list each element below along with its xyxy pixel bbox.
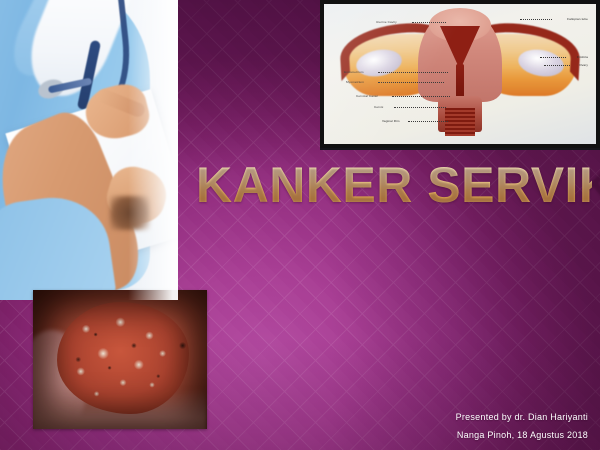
anatomy-label-cervix: Cervix [374, 105, 383, 109]
uterus-anatomy-diagram: Uterine Cavity Endometrium Myometrium Ce… [320, 0, 600, 150]
leader-line-vaginal-rim [408, 121, 448, 122]
leader-line-ovary [544, 65, 570, 66]
anatomy-label-fimbria: Fimbria [577, 55, 588, 59]
anatomy-label-cervical-canal: Cervical Canal [356, 94, 378, 98]
nurse-with-clipboard-photo [0, 0, 178, 300]
presentation-slide: Uterine Cavity Endometrium Myometrium Ce… [0, 0, 600, 450]
page-title: KANKER SERVIKS [196, 160, 592, 210]
lesion-photo-vignette [33, 290, 207, 429]
leader-line-uterine-cavity [412, 22, 446, 23]
leader-line-cervical-canal [392, 96, 450, 97]
anatomy-label-vaginal-rim: Vaginal Rim [382, 119, 400, 123]
footer-presenter-line: Presented by dr. Dian Hariyanti [456, 408, 588, 426]
leader-line-myometrium [378, 82, 444, 83]
nurse-photo-edge-fade [0, 0, 178, 300]
leader-line-endometrium [378, 72, 448, 73]
leader-line-fallopian-tube [520, 19, 552, 20]
anatomy-diagram-canvas: Uterine Cavity Endometrium Myometrium Ce… [324, 4, 596, 144]
anatomy-label-fallopian-tube: Fallopian tube [567, 17, 588, 21]
leader-line-cervix [394, 107, 446, 108]
vaginal-rim [445, 108, 475, 136]
anatomy-label-ovary: Ovary [579, 63, 588, 67]
anatomy-label-myometrium: Myometrium [346, 80, 364, 84]
anatomy-label-endometrium: Endometrium [344, 70, 364, 74]
cervical-cancer-colposcopy-photo [33, 290, 207, 429]
anatomy-label-uterine-cavity: Uterine Cavity [376, 20, 397, 24]
slide-footer: Presented by dr. Dian Hariyanti Nanga Pi… [456, 408, 588, 444]
footer-place-date-line: Nanga Pinoh, 18 Agustus 2018 [456, 426, 588, 444]
leader-line-fimbria [540, 57, 566, 58]
